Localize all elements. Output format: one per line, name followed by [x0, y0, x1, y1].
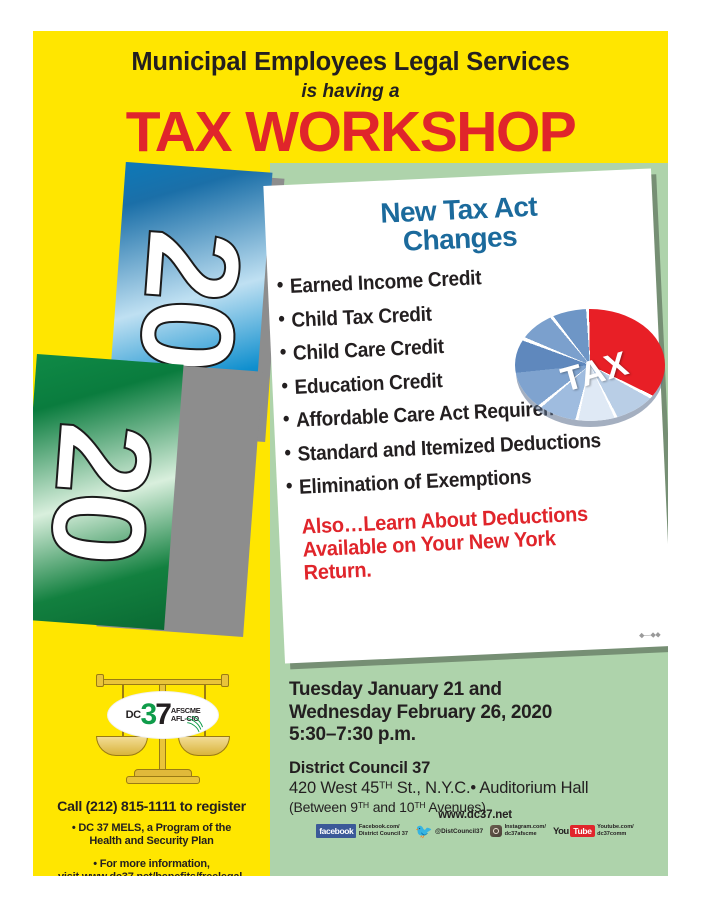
- more-info-note: • For more information, visit www.dc37.n…: [33, 858, 270, 876]
- youtube-label: Youtube.com/ dc37comm: [597, 824, 634, 838]
- logo-seven: 7: [155, 700, 170, 730]
- header-line-1: Municipal Employees Legal Services: [33, 48, 668, 77]
- address-ordinal: TH: [379, 780, 392, 791]
- event-details: Tuesday January 21 and Wednesday Februar…: [289, 679, 659, 815]
- event-location: District Council 37 420 West 45TH St., N…: [289, 759, 659, 815]
- more-info-line-1: • For more information,: [93, 858, 210, 870]
- event-address: 420 West 45TH St., N.Y.C.• Auditorium Ha…: [289, 779, 659, 798]
- scale-base-foot: [126, 776, 200, 784]
- youtube-icon: You Tube: [553, 825, 595, 837]
- logo-dc-text: DC: [126, 709, 141, 721]
- event-org: District Council 37: [289, 759, 659, 778]
- list-item: Elimination of Exemptions: [299, 461, 631, 500]
- instagram-label-line-1: Instagram.com/: [505, 824, 546, 830]
- address-post: St., N.Y.C.• Auditorium Hall: [392, 779, 588, 797]
- year-top-text: 20: [119, 225, 261, 373]
- scale-beam-cap-left: [96, 674, 104, 687]
- scale-pan-left: [96, 736, 148, 756]
- mels-note-line-2: Health and Security Plan: [89, 835, 213, 847]
- twitter-link[interactable]: 🐦 @DistCouncil37: [415, 824, 483, 838]
- address-pre: 420 West 45: [289, 779, 379, 797]
- facebook-label: Facebook.com/ District Council 37: [359, 824, 408, 838]
- year-plaques: 20 20: [33, 151, 278, 671]
- more-info-line-2: visit www.dc37.net/benefits/freelegal.: [58, 871, 245, 876]
- youtube-label-line-2: dc37comm: [597, 831, 626, 837]
- facebook-icon: facebook: [316, 824, 356, 838]
- instagram-icon: [490, 825, 502, 837]
- event-date-line-1: Tuesday January 21 and: [289, 679, 659, 702]
- logo-swoosh-icon: [181, 716, 207, 733]
- twitter-handle: @DistCouncil37: [435, 828, 483, 835]
- facebook-link[interactable]: facebook Facebook.com/ District Council …: [316, 824, 408, 838]
- event-datetime: Tuesday January 21 and Wednesday Februar…: [289, 679, 659, 747]
- logo-three: 3: [141, 700, 156, 730]
- dc37-scale-logo: DC 3 7 AFSCME AFL-CIO: [88, 670, 238, 790]
- instagram-label-line-2: dc37afscme: [505, 831, 537, 837]
- facebook-label-line-2: District Council 37: [359, 831, 408, 837]
- registration-info: Call (212) 815-1111 to register • DC 37 …: [33, 799, 270, 876]
- website-link[interactable]: www.dc37.net: [289, 809, 661, 821]
- card-title: New Tax Act Changes: [264, 187, 654, 262]
- event-date-line-2: Wednesday February 26, 2020: [289, 702, 659, 725]
- tax-pie-chart-icon: TAX: [503, 301, 668, 441]
- call-to-register: Call (212) 815-1111 to register: [33, 799, 270, 815]
- also-note: Also…Learn About Deductions Available on…: [278, 494, 650, 586]
- scale-beam: [100, 679, 226, 685]
- youtube-tube-badge: Tube: [570, 825, 594, 837]
- scale-pan-right: [178, 736, 230, 756]
- list-item: Earned Income Credit: [289, 260, 621, 299]
- year-bottom-text: 20: [33, 418, 171, 566]
- event-time: 5:30–7:30 p.m.: [289, 724, 659, 747]
- social-strip: www.dc37.net facebook Facebook.com/ Dist…: [289, 809, 661, 838]
- social-icon-row: facebook Facebook.com/ District Council …: [289, 824, 661, 838]
- green-year-plaque: 20: [33, 354, 184, 630]
- poster-canvas: Municipal Employees Legal Services is ha…: [33, 31, 668, 876]
- instagram-label: Instagram.com/ dc37afscme: [505, 824, 546, 838]
- logo-oval: DC 3 7 AFSCME AFL-CIO: [107, 691, 219, 739]
- poster-header: Municipal Employees Legal Services is ha…: [33, 31, 668, 161]
- mels-note-line-1: • DC 37 MELS, a Program of the: [72, 822, 231, 834]
- youtube-label-line-1: Youtube.com/: [597, 824, 634, 830]
- card-corner-mark: ◆—◆◆: [639, 631, 660, 640]
- instagram-link[interactable]: Instagram.com/ dc37afscme: [490, 824, 546, 838]
- facebook-label-line-1: Facebook.com/: [359, 824, 400, 830]
- scale-beam-cap-right: [221, 674, 229, 687]
- youtube-you-text: You: [553, 826, 569, 837]
- youtube-link[interactable]: You Tube Youtube.com/ dc37comm: [553, 824, 634, 838]
- mels-note: • DC 37 MELS, a Program of the Health an…: [33, 822, 270, 849]
- twitter-icon: 🐦: [415, 824, 432, 838]
